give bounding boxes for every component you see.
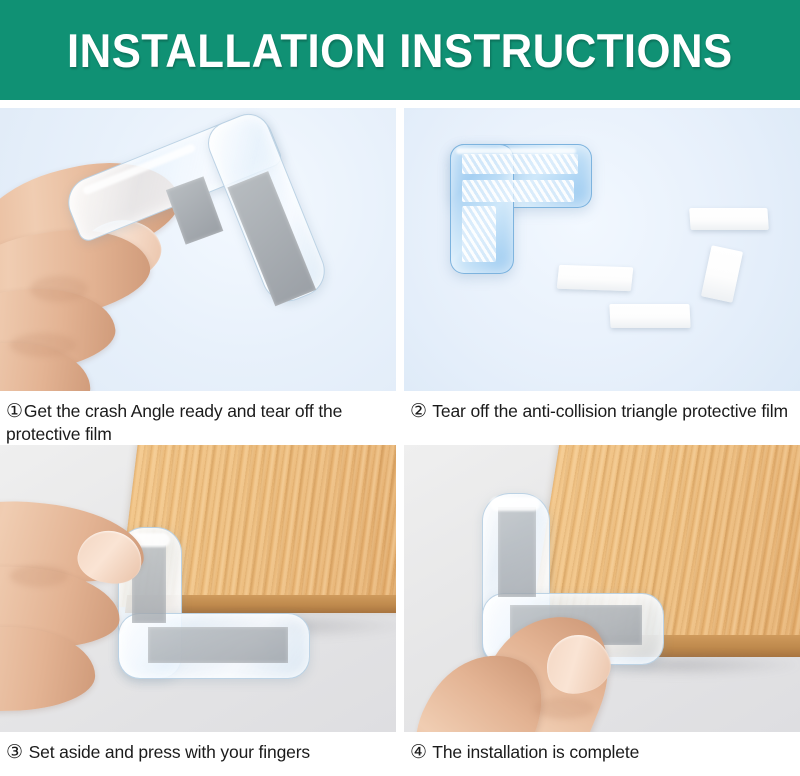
step-4: ④ The installation is complete bbox=[404, 445, 800, 776]
film-strip bbox=[557, 265, 634, 291]
step-2-number: ② bbox=[410, 401, 427, 422]
film-strip bbox=[689, 208, 769, 230]
step-3-photo bbox=[0, 445, 396, 732]
film-strip bbox=[609, 304, 690, 328]
step-2: ② Tear off the anti-collision triangle p… bbox=[404, 100, 800, 445]
step-3-caption: ③ Set aside and press with your fingers bbox=[0, 732, 396, 765]
guard-highlight bbox=[456, 148, 576, 154]
adhesive-strip bbox=[498, 507, 536, 597]
step-1-caption: ①Get the crash Angle ready and tear off … bbox=[0, 391, 396, 446]
step-4-text: The installation is complete bbox=[432, 742, 639, 762]
corner-guard-clear bbox=[118, 527, 308, 677]
step-1: ①Get the crash Angle ready and tear off … bbox=[0, 100, 396, 445]
adhesive-pad bbox=[462, 180, 574, 202]
step-4-caption: ④ The installation is complete bbox=[404, 732, 800, 765]
step-2-photo bbox=[404, 108, 800, 391]
corner-guard-blue bbox=[450, 144, 590, 272]
step-1-photo bbox=[0, 108, 396, 391]
knuckle-crease bbox=[10, 333, 76, 357]
knuckle-crease bbox=[10, 565, 68, 587]
step-1-number: ① bbox=[6, 401, 23, 422]
knuckle-crease bbox=[534, 697, 594, 719]
knuckle-crease bbox=[30, 276, 88, 302]
installation-instructions-infographic: INSTALLATION INSTRUCTIONS bbox=[0, 0, 800, 776]
adhesive-pad bbox=[462, 154, 578, 174]
step-2-caption: ② Tear off the anti-collision triangle p… bbox=[404, 391, 800, 424]
step-3-number: ③ bbox=[6, 742, 23, 763]
steps-row-bottom: ③ Set aside and press with your fingers bbox=[0, 445, 800, 776]
guard-highlight bbox=[490, 497, 540, 511]
steps-row-top: ①Get the crash Angle ready and tear off … bbox=[0, 100, 800, 445]
step-2-text: Tear off the anti-collision triangle pro… bbox=[432, 401, 788, 421]
page-title: INSTALLATION INSTRUCTIONS bbox=[67, 23, 733, 78]
step-4-photo bbox=[404, 445, 800, 732]
adhesive-pad bbox=[462, 206, 496, 262]
step-4-number: ④ bbox=[410, 742, 427, 763]
step-3: ③ Set aside and press with your fingers bbox=[0, 445, 396, 776]
header-banner: INSTALLATION INSTRUCTIONS bbox=[0, 0, 800, 100]
step-1-text: Get the crash Angle ready and tear off t… bbox=[6, 401, 342, 444]
steps-grid: ①Get the crash Angle ready and tear off … bbox=[0, 100, 800, 776]
step-3-text: Set aside and press with your fingers bbox=[29, 742, 310, 762]
adhesive-strip bbox=[148, 627, 288, 663]
